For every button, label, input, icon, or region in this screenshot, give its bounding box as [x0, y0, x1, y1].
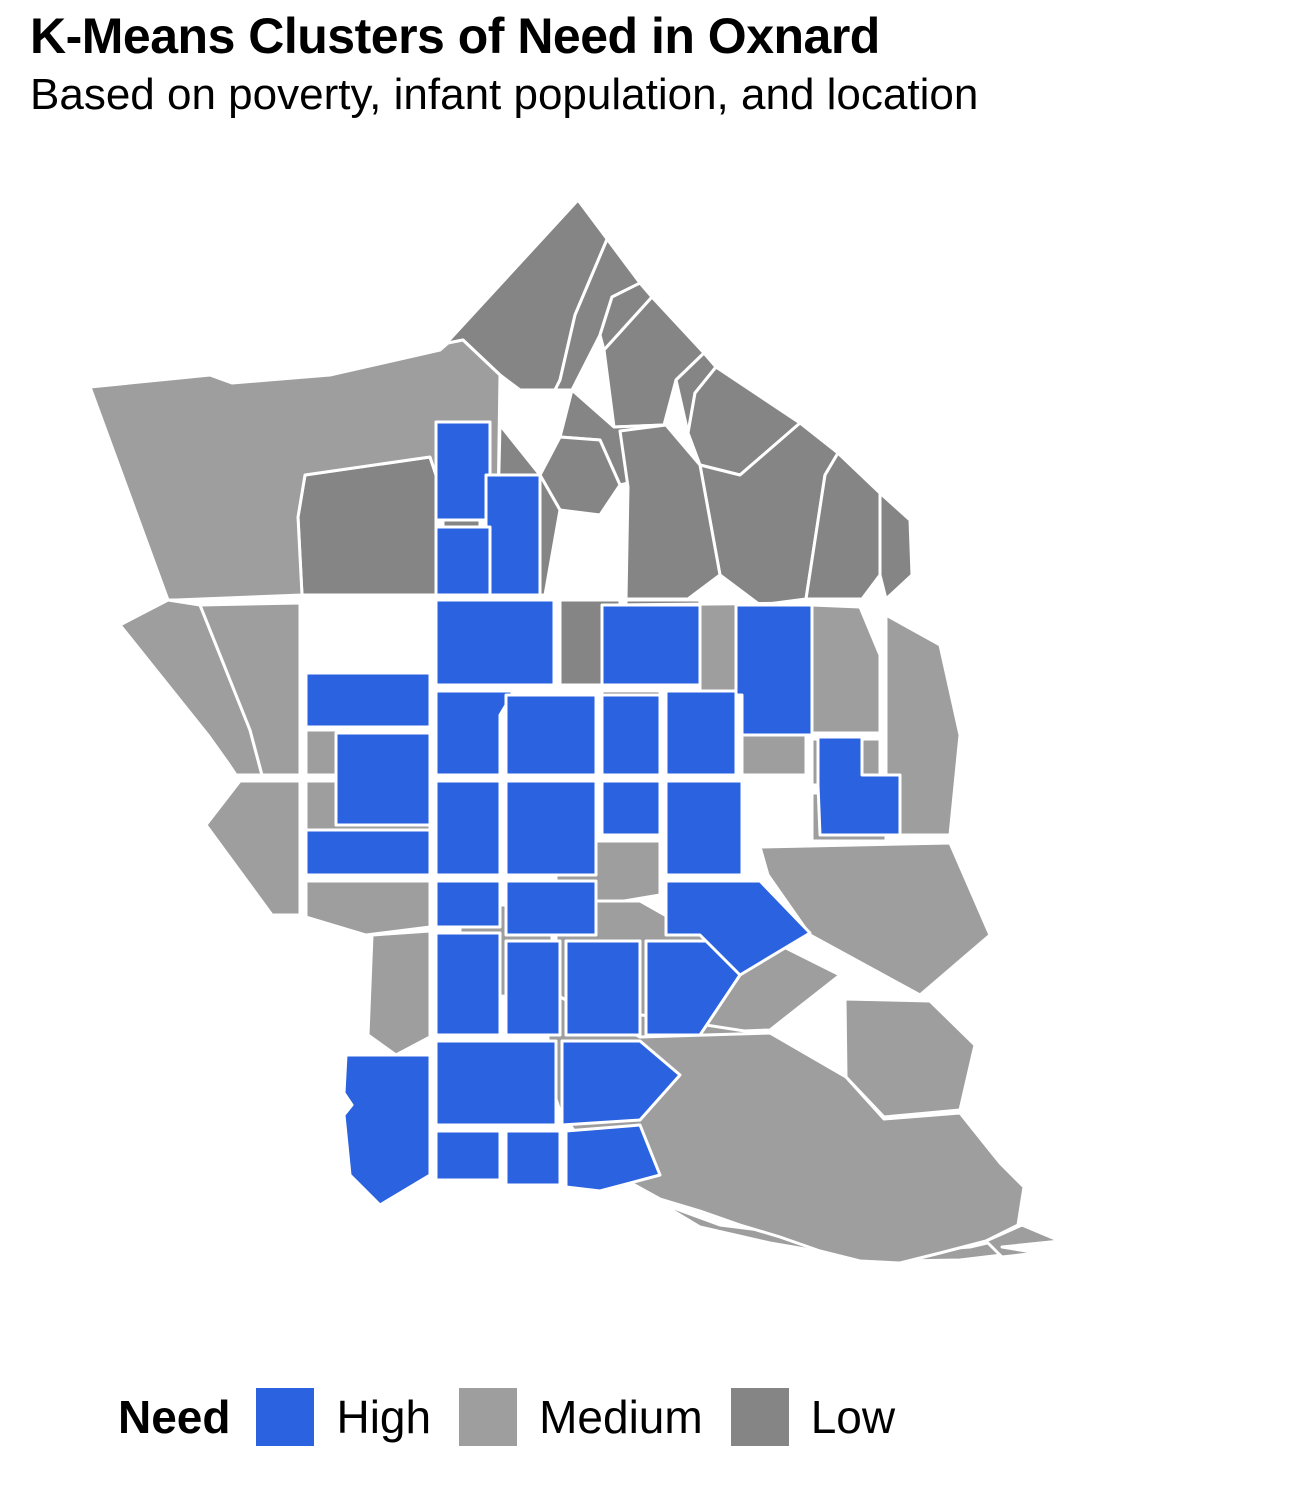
page-title: K-Means Clusters of Need in Oxnard [30, 8, 1290, 65]
tract-low[interactable] [298, 457, 436, 595]
legend: Need High Medium Low [118, 1382, 923, 1452]
page-subtitle: Based on poverty, infant population, and… [30, 69, 1290, 122]
map-svg [0, 175, 1299, 1325]
tract-medium[interactable] [812, 605, 880, 733]
legend-title: Need [118, 1394, 230, 1440]
tract-high[interactable] [506, 1131, 560, 1185]
legend-entry-high[interactable]: High [256, 1388, 431, 1446]
legend-label-high: High [336, 1394, 431, 1440]
legend-swatch-medium [459, 1388, 517, 1446]
legend-label-low: Low [811, 1394, 895, 1440]
legend-swatch-high [256, 1388, 314, 1446]
tract-medium[interactable] [206, 781, 300, 915]
title-block: K-Means Clusters of Need in Oxnard Based… [30, 8, 1290, 122]
figure-root: K-Means Clusters of Need in Oxnard Based… [0, 0, 1299, 1500]
legend-label-medium: Medium [539, 1394, 703, 1440]
legend-swatch-low [731, 1388, 789, 1446]
tract-medium[interactable] [306, 881, 430, 935]
choropleth-map [0, 175, 1299, 1325]
legend-entry-medium[interactable]: Medium [459, 1388, 703, 1446]
tract-medium[interactable] [368, 931, 430, 1055]
legend-entry-low[interactable]: Low [731, 1388, 895, 1446]
tract-low[interactable] [880, 493, 912, 599]
